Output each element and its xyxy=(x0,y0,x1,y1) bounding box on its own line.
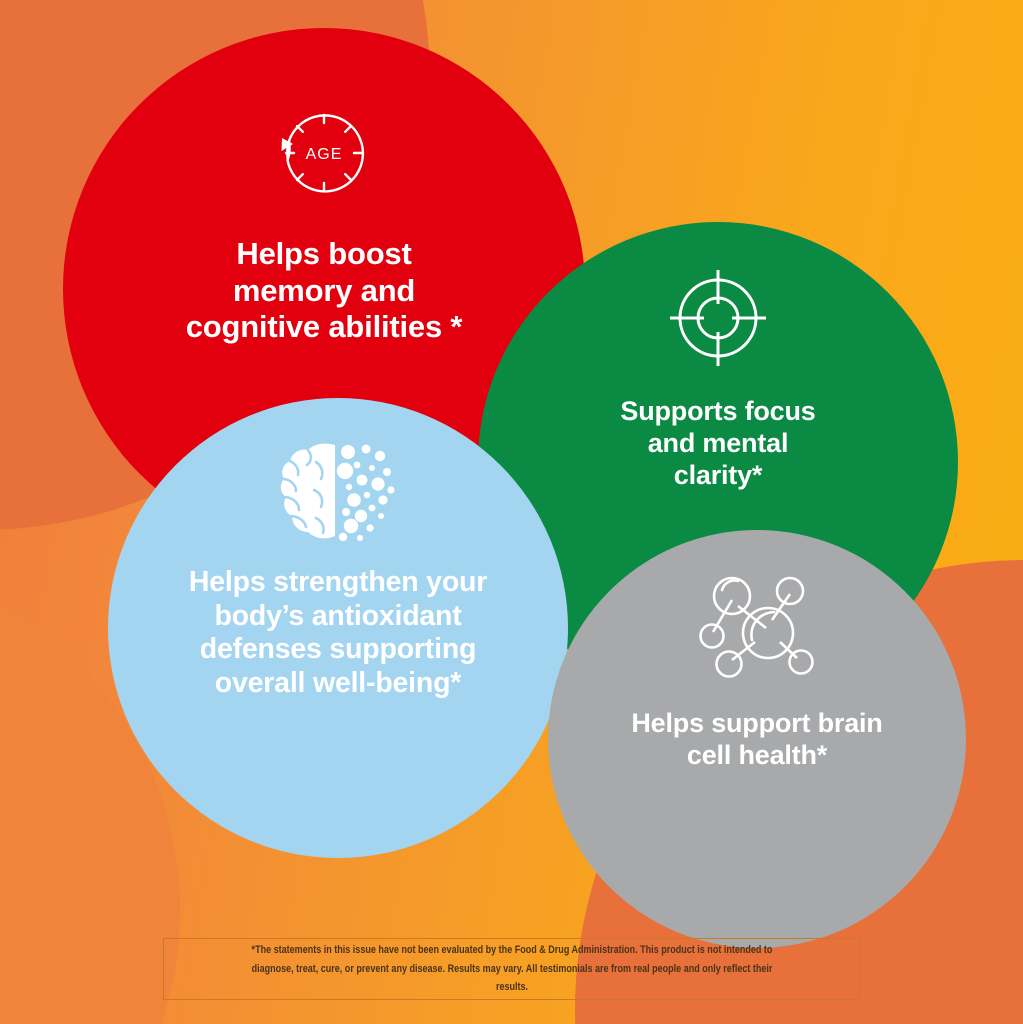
brain-hemispheres-icon xyxy=(278,440,398,544)
benefit-text-focus: Supports focus and mental clarity* xyxy=(568,396,868,492)
age-clock-icon-label: AGE xyxy=(306,146,343,163)
disclaimer-box: *The statements in this issue have not b… xyxy=(163,938,860,1000)
molecule-network-icon xyxy=(698,570,816,682)
benefit-text-memory: Helps boost memory and cognitive abiliti… xyxy=(124,236,524,346)
benefit-circle-brain-cell: Helps support brain cell health* xyxy=(548,530,966,948)
infographic-poster: AGE Helps boost memory and cognitive abi… xyxy=(0,0,1023,1024)
disclaimer-text: *The statements in this issue have not b… xyxy=(241,941,782,998)
benefit-text-brain-cell: Helps support brain cell health* xyxy=(592,708,922,772)
benefit-text-antioxidant: Helps strengthen your body’s antioxidant… xyxy=(158,566,518,701)
age-clock-icon: AGE xyxy=(269,98,379,208)
crosshair-target-icon xyxy=(664,264,772,372)
benefit-circle-antioxidant: Helps strengthen your body’s antioxidant… xyxy=(108,398,568,858)
